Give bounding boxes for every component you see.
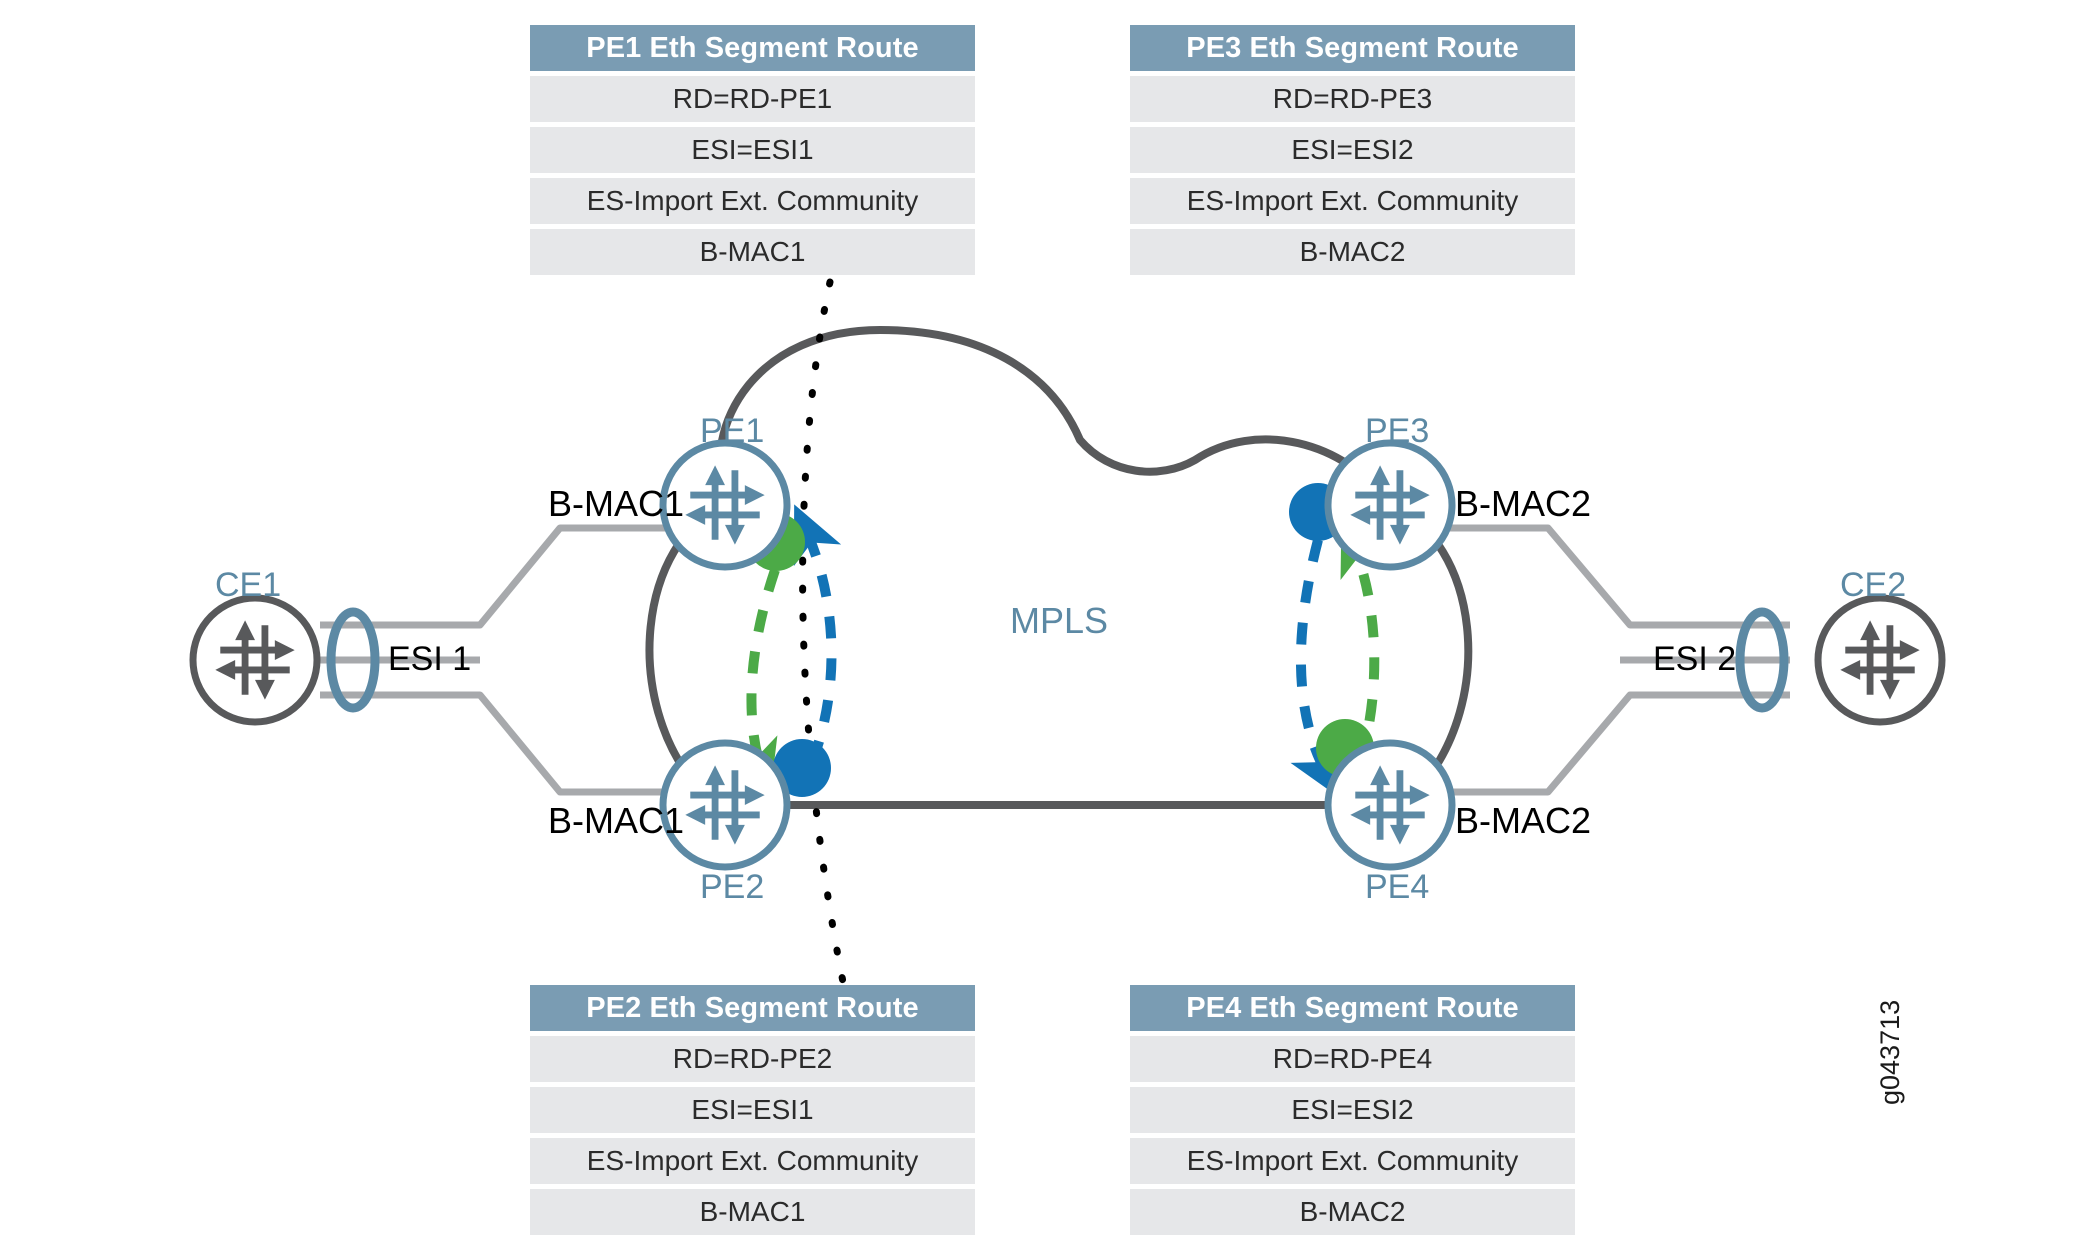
route-table-row-community: ES-Import Ext. Community xyxy=(530,178,975,224)
route-table-row-rd: RD=RD-PE3 xyxy=(1130,76,1575,122)
mac-label-bmac1-bottom: B-MAC1 xyxy=(548,800,684,842)
route-table-row-bmac: B-MAC1 xyxy=(530,1189,975,1235)
route-table-row-rd: RD=RD-PE1 xyxy=(530,76,975,122)
node-label-pe2: PE2 xyxy=(700,868,764,907)
route-table-row-bmac: B-MAC1 xyxy=(530,229,975,275)
cloud-label-mpls: MPLS xyxy=(1010,600,1108,642)
node-label-pe3: PE3 xyxy=(1365,412,1429,451)
segment-label-esi1: ESI 1 xyxy=(388,640,471,679)
node-ce1[interactable] xyxy=(193,598,317,722)
route-table-row-rd: RD=RD-PE4 xyxy=(1130,1036,1575,1082)
route-table-row-esi: ESI=ESI2 xyxy=(1130,1087,1575,1133)
route-table-pe2: PE2 Eth Segment Route RD=RD-PE2 ESI=ESI1… xyxy=(530,985,975,1235)
route-table-pe1: PE1 Eth Segment Route RD=RD-PE1 ESI=ESI1… xyxy=(530,25,975,275)
route-table-header: PE2 Eth Segment Route xyxy=(530,985,975,1031)
route-table-pe3: PE3 Eth Segment Route RD=RD-PE3 ESI=ESI2… xyxy=(1130,25,1575,275)
route-table-row-esi: ESI=ESI1 xyxy=(530,127,975,173)
mac-label-bmac2-top: B-MAC2 xyxy=(1455,483,1591,525)
route-arrow-green-pe1-pe2 xyxy=(751,570,775,772)
route-table-header: PE3 Eth Segment Route xyxy=(1130,25,1575,71)
route-table-header: PE1 Eth Segment Route xyxy=(530,25,975,71)
node-label-pe1: PE1 xyxy=(700,412,764,451)
segment-label-esi2: ESI 2 xyxy=(1653,640,1736,679)
route-table-row-bmac: B-MAC2 xyxy=(1130,229,1575,275)
node-label-ce1: CE1 xyxy=(215,566,281,605)
node-pe4[interactable] xyxy=(1328,743,1452,867)
figure-id-watermark: g043713 xyxy=(1875,1000,1906,1105)
node-pe3[interactable] xyxy=(1328,443,1452,567)
node-label-ce2: CE2 xyxy=(1840,566,1906,605)
diagram-canvas: CE1 PE1 PE2 PE3 PE4 CE2 MPLS ESI 1 ESI 2… xyxy=(0,0,2100,1257)
mac-label-bmac2-bottom: B-MAC2 xyxy=(1455,800,1591,842)
route-table-row-community: ES-Import Ext. Community xyxy=(1130,178,1575,224)
route-table-pe4: PE4 Eth Segment Route RD=RD-PE4 ESI=ESI2… xyxy=(1130,985,1575,1235)
route-table-row-esi: ESI=ESI2 xyxy=(1130,127,1575,173)
route-table-row-community: ES-Import Ext. Community xyxy=(1130,1138,1575,1184)
route-table-header: PE4 Eth Segment Route xyxy=(1130,985,1575,1031)
es-route-dotted-line xyxy=(803,282,845,992)
route-table-row-esi: ESI=ESI1 xyxy=(530,1087,975,1133)
route-table-row-bmac: B-MAC2 xyxy=(1130,1189,1575,1235)
mac-label-bmac1-top: B-MAC1 xyxy=(548,483,684,525)
node-ce2[interactable] xyxy=(1818,598,1942,722)
route-table-row-community: ES-Import Ext. Community xyxy=(530,1138,975,1184)
node-label-pe4: PE4 xyxy=(1365,868,1429,907)
route-table-row-rd: RD=RD-PE2 xyxy=(530,1036,975,1082)
